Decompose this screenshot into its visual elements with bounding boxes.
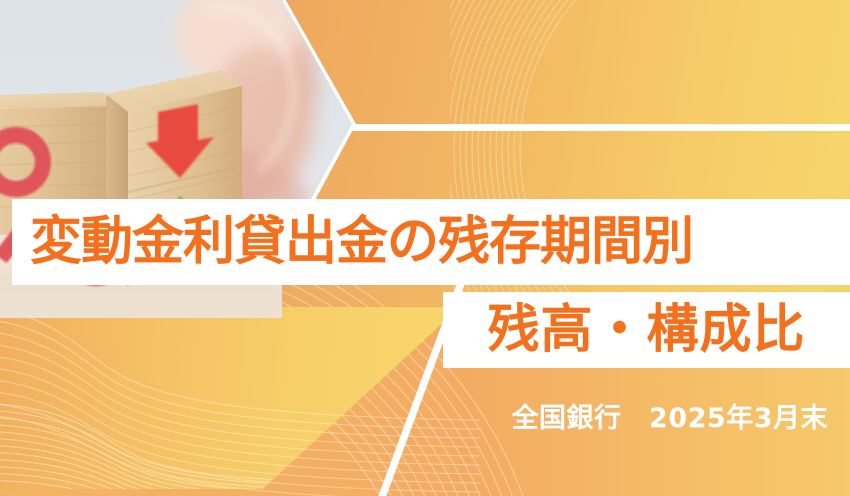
main-title-banner: 変動金利貸出金の残存期間別 [12,199,850,285]
poster-canvas: 変動金利貸出金の残存期間別 残高・構成比 全国銀行 2025年3月末 [0,0,850,496]
horizontal-white-rule [330,124,850,131]
page-subtitle: 残高・構成比 [487,304,805,356]
page-title: 変動金利貸出金の残存期間別 [12,216,693,268]
sub-title-banner: 残高・構成比 [443,292,850,368]
source-caption: 全国銀行 2025年3月末 [512,396,828,435]
